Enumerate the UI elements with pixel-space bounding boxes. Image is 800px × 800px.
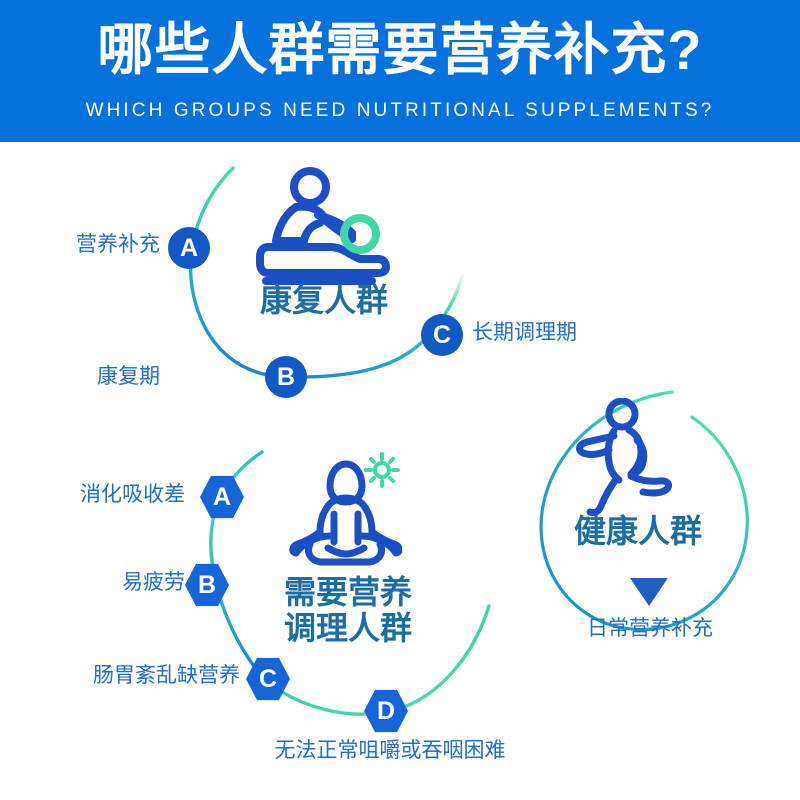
care-node-d-badge[interactable]: D	[364, 689, 408, 733]
healthy-group-title: 健康人群	[548, 514, 728, 550]
care-node-d-label: 无法正常咀嚼或吞咽困难	[210, 738, 570, 764]
care-node-b-badge[interactable]: B	[185, 563, 229, 607]
page-header: 哪些人群需要营养补充? WHICH GROUPS NEED NUTRITIONA…	[0, 0, 800, 142]
rehab-node-a-label: 营养补充	[20, 232, 160, 258]
rehab-node-c-badge[interactable]: C	[421, 314, 463, 356]
running-person-icon	[573, 398, 683, 516]
care-node-a-badge[interactable]: A	[200, 475, 244, 519]
healthy-group-caption: 日常营养补充	[540, 616, 760, 642]
page-title: 哪些人群需要营养补充?	[0, 18, 800, 82]
rehab-node-b-label: 康复期	[30, 364, 160, 390]
care-group-title: 需要营养 调理人群	[248, 575, 448, 647]
massage-therapy-icon	[256, 163, 392, 285]
care-node-a-label: 消化吸收差	[25, 482, 185, 508]
rehab-node-c-label: 长期调理期	[472, 320, 672, 346]
meditation-lotus-icon	[288, 452, 402, 566]
down-triangle-icon	[630, 578, 668, 606]
care-node-b-label: 易疲劳	[35, 570, 185, 596]
page-subtitle: WHICH GROUPS NEED NUTRITIONAL SUPPLEMENT…	[0, 100, 800, 122]
care-node-c-label: 肠胃紊乱缺营养	[15, 663, 240, 689]
rehab-group-title: 康复人群	[234, 283, 414, 319]
care-node-c-badge[interactable]: C	[246, 657, 290, 701]
infographic-page: 哪些人群需要营养补充? WHICH GROUPS NEED NUTRITIONA…	[0, 0, 800, 800]
rehab-node-a-badge[interactable]: A	[168, 227, 210, 269]
rehab-node-b-badge[interactable]: B	[265, 356, 307, 398]
